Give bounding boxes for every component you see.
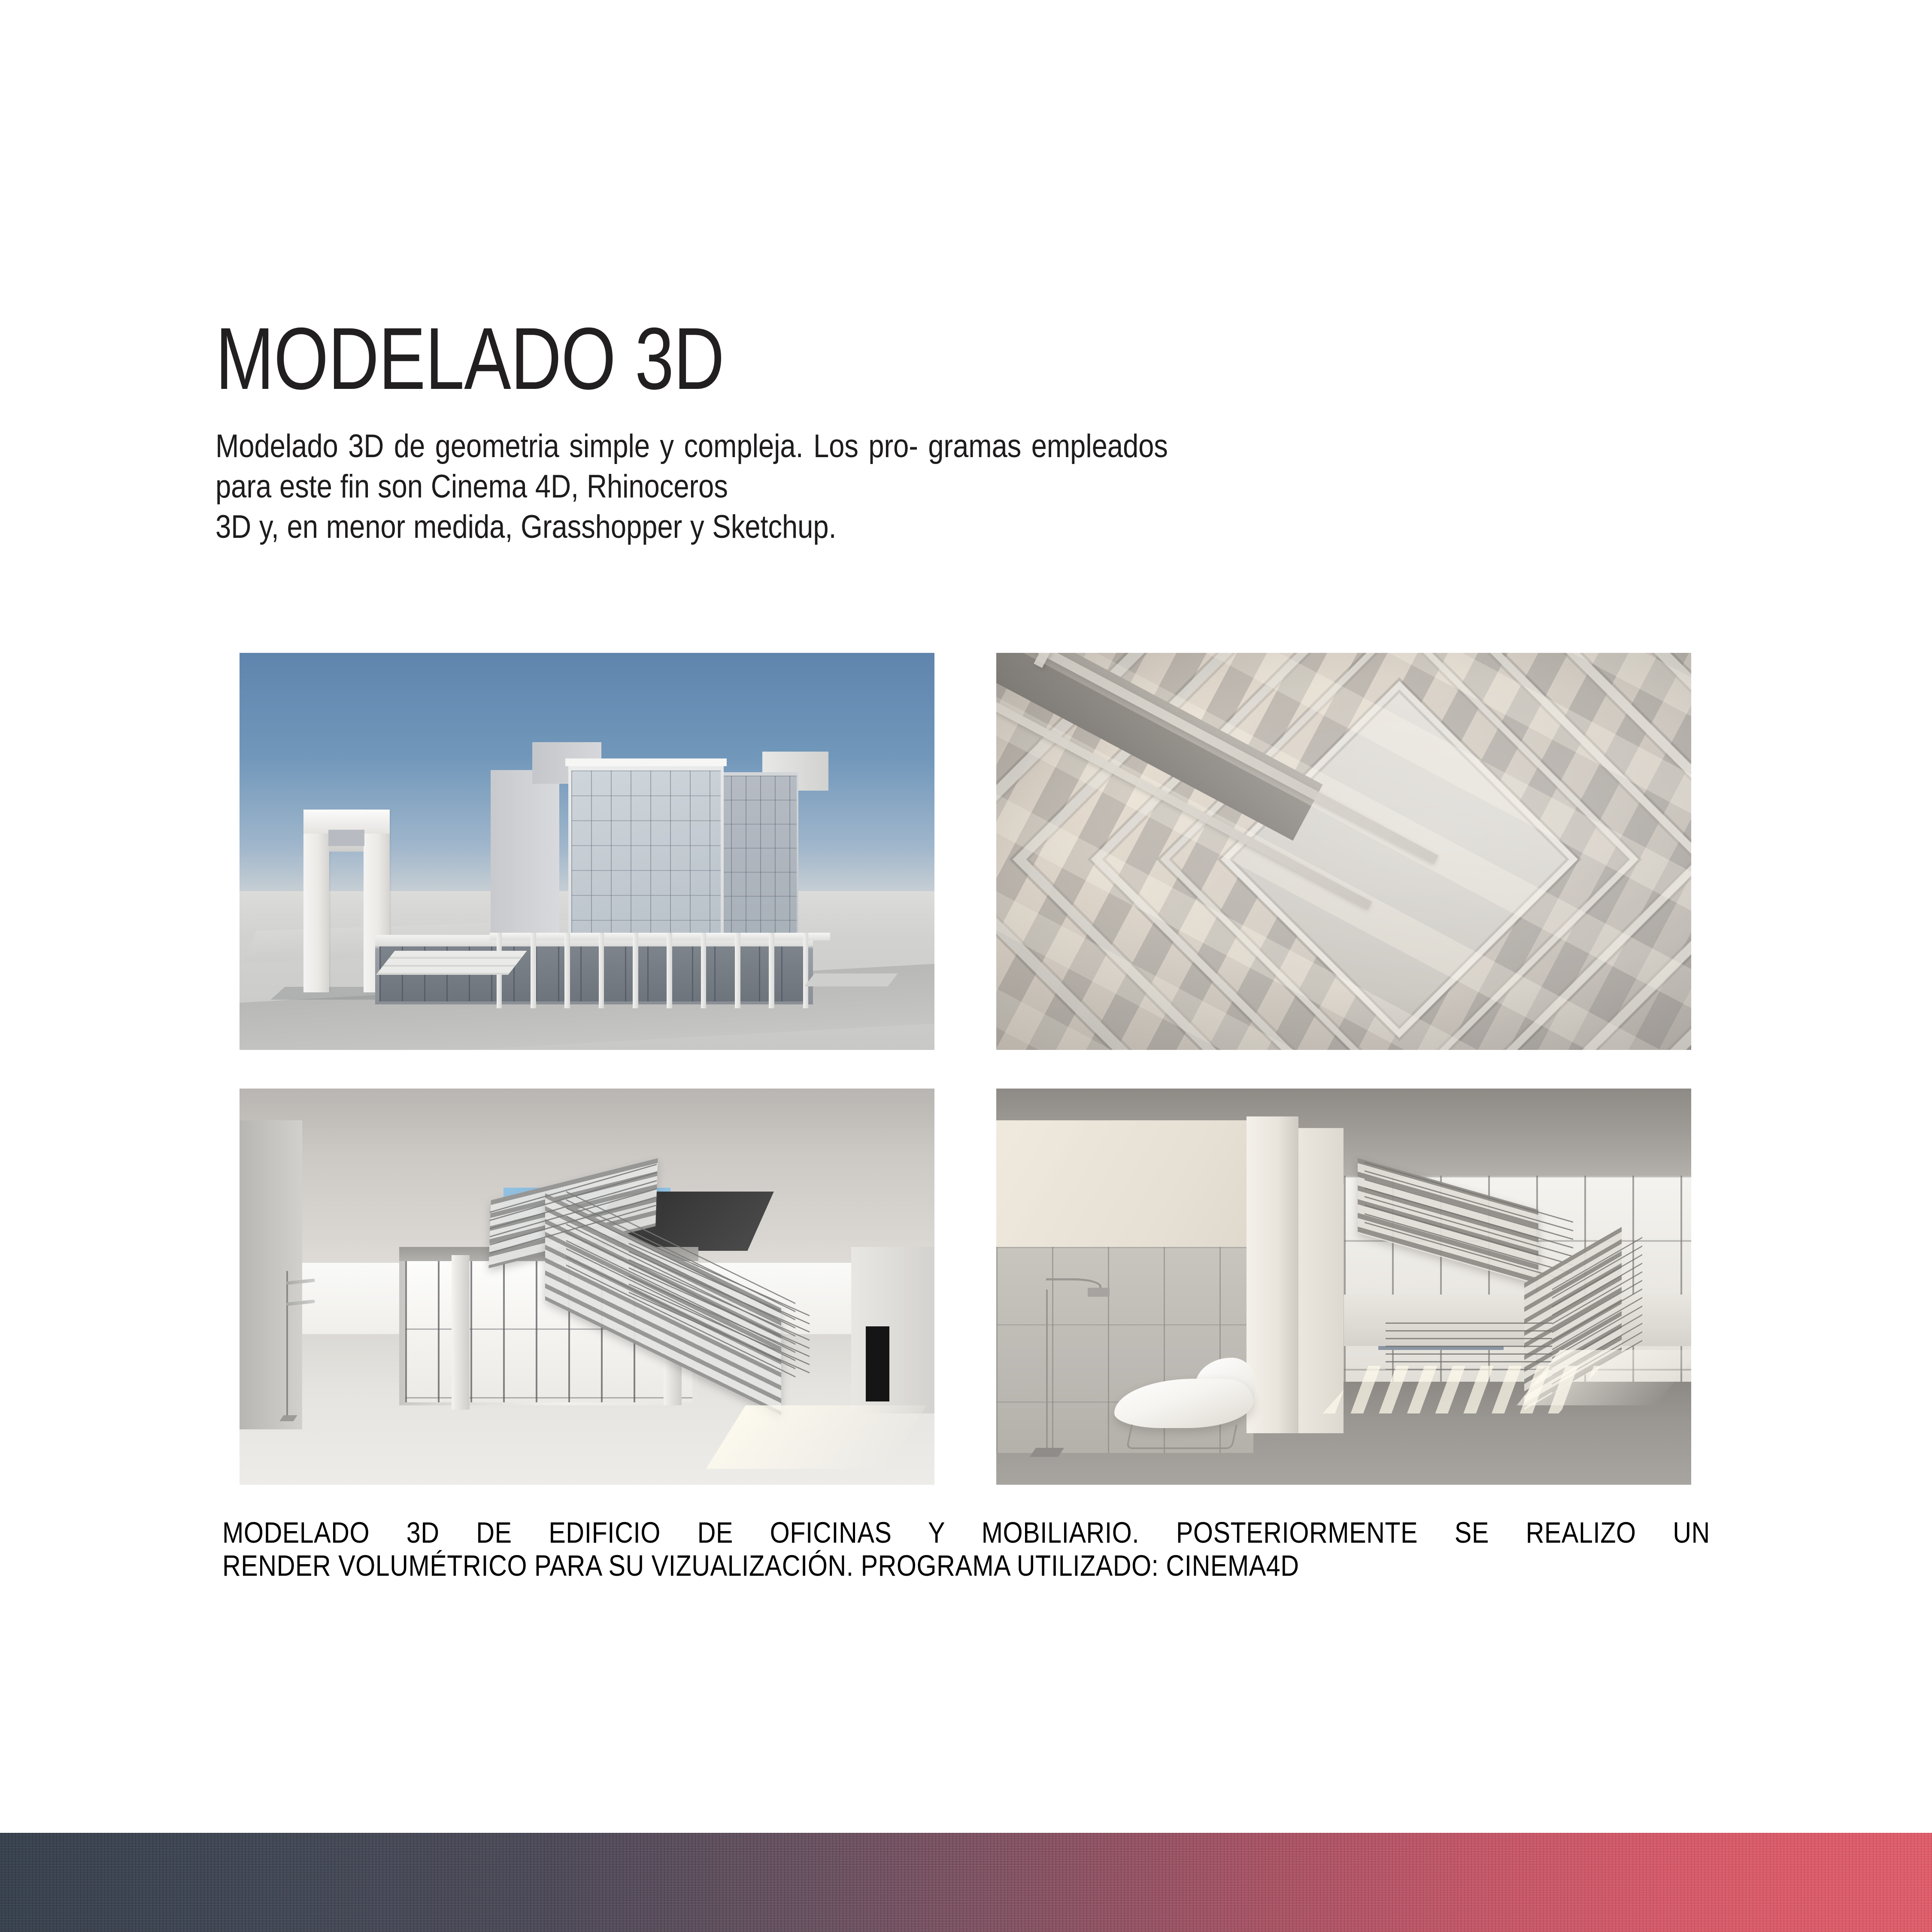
render-image-atrium-looking-up: Upward view inside a rectangular atrium …	[996, 653, 1691, 1050]
lounge-chair	[1114, 1354, 1253, 1449]
render-image-interior-lounge: Interior lounge area with a white chaise…	[996, 1089, 1691, 1485]
header-text-block: MODELADO 3D Modelado 3D de geometria sim…	[215, 318, 1331, 547]
street-lamp	[278, 1271, 340, 1422]
render-gallery-grid: Exterior 3D render of a multi-storey off…	[222, 646, 1708, 1492]
intro-paragraph: Modelado 3D de geometria simple y comple…	[215, 426, 1168, 548]
render-image-exterior-office-building: Exterior 3D render of a multi-storey off…	[240, 653, 934, 1050]
footer-texture-overlay-fine	[0, 1833, 1932, 1932]
intro-paragraph-line-3: 3D y, en menor medida, Grasshopper y Ske…	[215, 507, 1168, 547]
portfolio-page: MODELADO 3D Modelado 3D de geometria sim…	[0, 0, 1932, 1932]
gallery-caption-line-2: RENDER VOLUMÉTRICO PARA SU VIZUALIZACIÓN…	[222, 1549, 1710, 1582]
page-title: MODELADO 3D	[215, 318, 1108, 400]
colonnade	[490, 933, 830, 1008]
intro-paragraph-line-1: Modelado 3D de geometria simple y comple…	[215, 428, 918, 464]
footer-gradient-bar	[0, 1833, 1932, 1932]
gallery-caption: MODELADO 3D DE EDIFICIO DE OFICINAS Y MO…	[222, 1516, 1503, 1583]
render-image-interior-open-plan: Interior open plan office with a double-…	[240, 1089, 934, 1485]
floor-lamp	[1031, 1275, 1114, 1457]
doorway	[866, 1326, 889, 1401]
gallery-caption-line-1: MODELADO 3D DE EDIFICIO DE OFICINAS Y MO…	[222, 1516, 1710, 1549]
